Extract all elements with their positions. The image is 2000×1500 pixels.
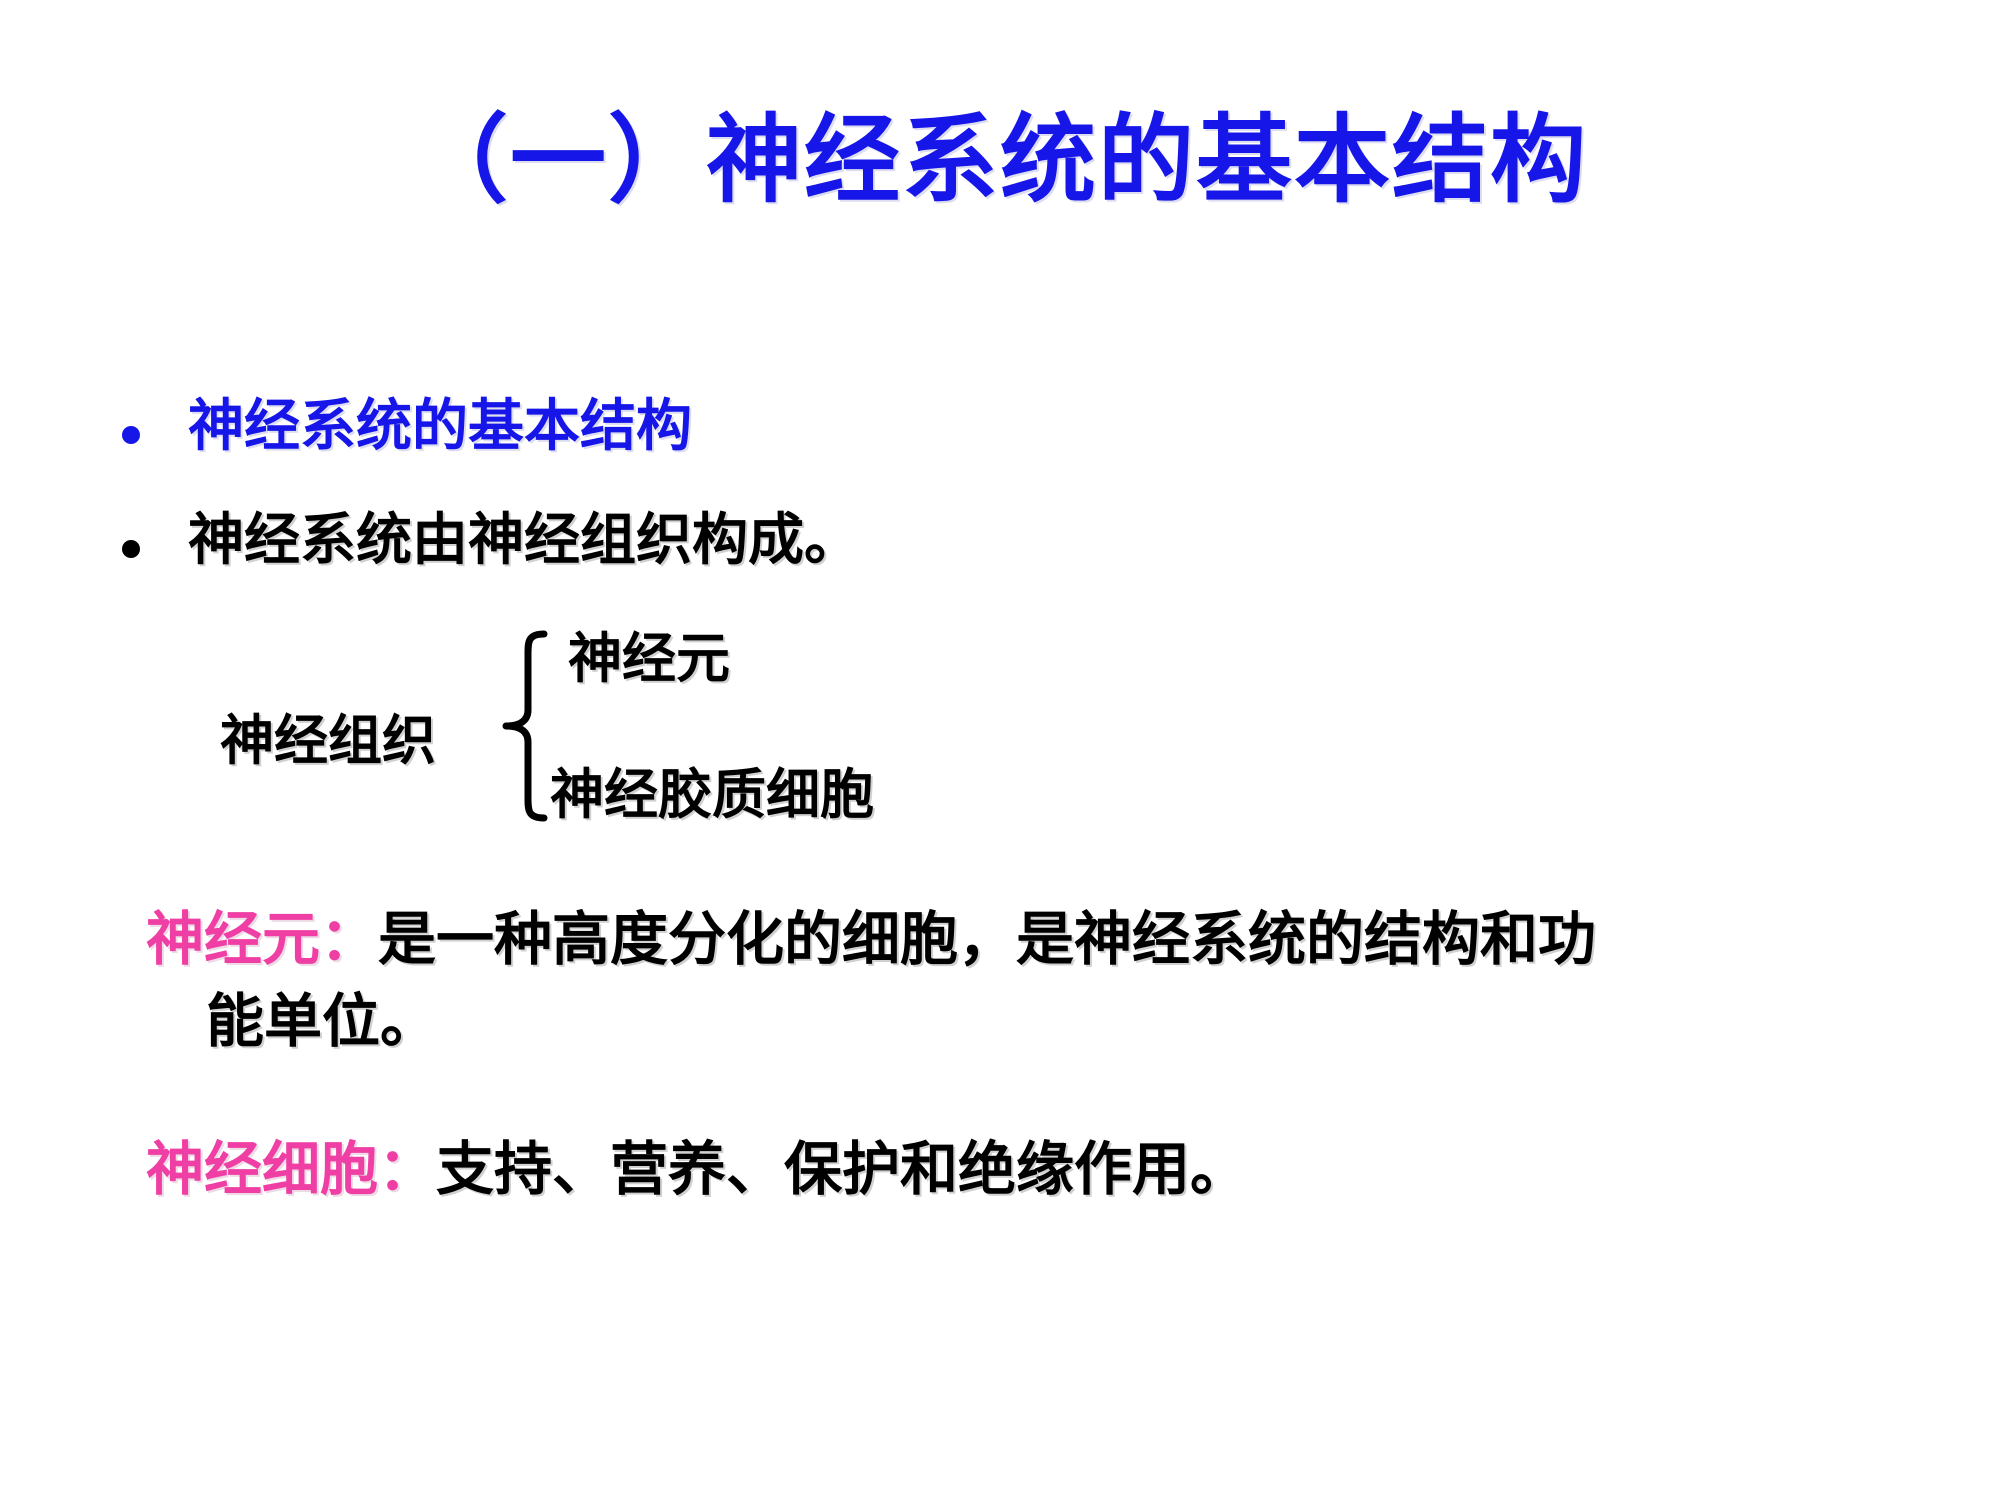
definition-nerve-cell: 神经细胞：支持、营养、保护和绝缘作用。 (146, 1128, 1936, 1210)
bullet-dot-icon (122, 540, 140, 558)
definition-nerve-cell-term: 神经细胞： (146, 1135, 436, 1203)
brace-diagram-label: 神经组织 (220, 696, 436, 775)
brace-diagram: 神经组织 神经元 神经胶质细胞 (220, 628, 1120, 828)
bullet-item-2: 神经系统由神经组织构成。 (122, 512, 860, 571)
bullet-item-2-label: 神经系统由神经组织构成。 (188, 512, 860, 571)
brace-branch-neuron: 神经元 (568, 614, 730, 693)
definition-nerve-cell-body: 支持、营养、保护和绝缘作用。 (436, 1135, 1248, 1203)
definition-neuron-body-line-1: 是一种高度分化的细胞，是神经系统的结构和功 (378, 905, 1596, 973)
brace-branch-glial-cell: 神经胶质细胞 (550, 750, 874, 829)
page-title: （一）神经系统的基本结构 (0, 112, 2000, 208)
definition-neuron-body-line-2: 能单位。 (146, 980, 1936, 1062)
definition-neuron: 神经元：是一种高度分化的细胞，是神经系统的结构和功 能单位。 (146, 898, 1936, 1063)
definition-neuron-term: 神经元： (146, 905, 378, 973)
bullet-item-1: 神经系统的基本结构 (122, 398, 692, 457)
bullet-item-1-label: 神经系统的基本结构 (188, 398, 692, 457)
curly-brace-icon (488, 628, 558, 824)
slide-canvas: （一）神经系统的基本结构 神经系统的基本结构 神经系统由神经组织构成。 神经组织… (0, 0, 2000, 1500)
bullet-dot-icon (122, 426, 140, 444)
